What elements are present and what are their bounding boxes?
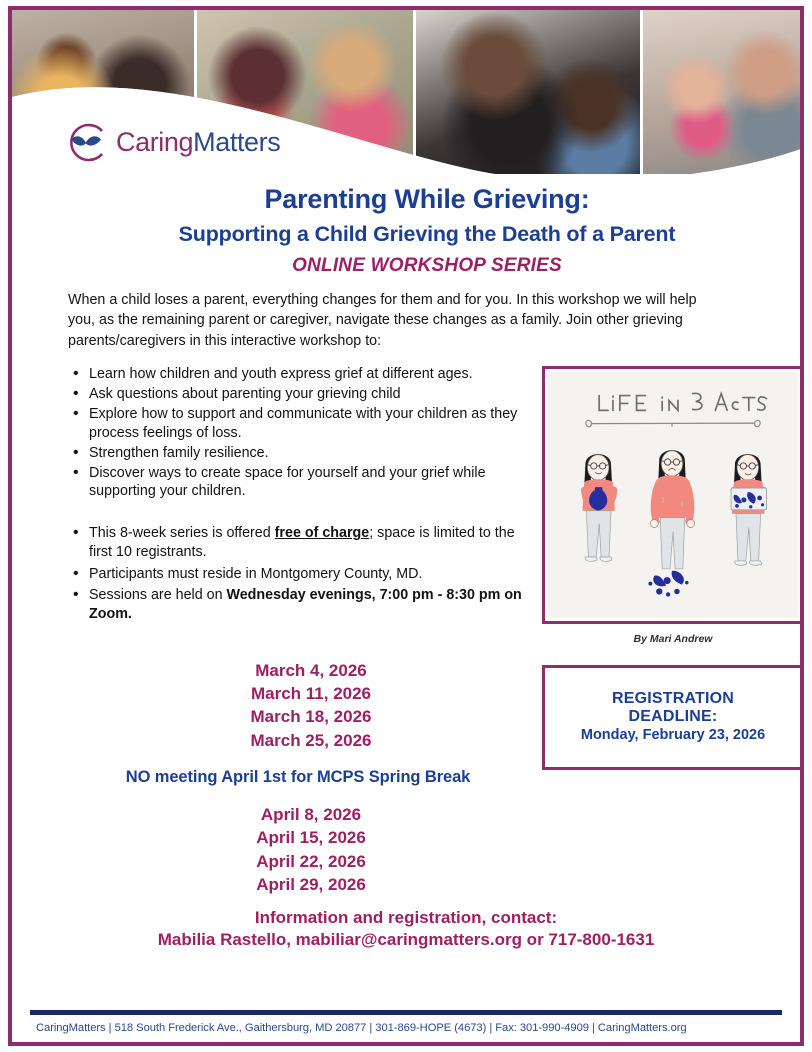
photo-father-and-son-drawing xyxy=(416,10,640,174)
page-subtitle: Supporting a Child Grieving the Death of… xyxy=(68,222,786,247)
list-item: Sessions are held on Wednesday evenings,… xyxy=(89,586,528,623)
list-item: Ask questions about parenting your griev… xyxy=(89,385,528,404)
list-item: Explore how to support and communicate w… xyxy=(89,405,528,442)
list-item: March 25, 2026 xyxy=(94,729,528,752)
session-dates-march: March 4, 2026 March 11, 2026 March 18, 2… xyxy=(68,659,528,752)
list-item: Strengthen family resilience. xyxy=(89,444,528,463)
objectives-column: Learn how children and youth express gri… xyxy=(68,365,528,626)
photo-father-and-daughter-coloring xyxy=(643,10,800,174)
detail-text: Participants must reside in Montgomery C… xyxy=(89,566,422,582)
registration-column: REGISTRATION DEADLINE: Monday, February … xyxy=(528,659,804,770)
dates-column: March 4, 2026 March 11, 2026 March 18, 2… xyxy=(68,659,528,896)
illustration-column: By Mari Andrew xyxy=(528,365,804,645)
dates-and-registration-row: March 4, 2026 March 11, 2026 March 18, 2… xyxy=(68,659,786,896)
list-item: This 8-week series is offered free of ch… xyxy=(89,524,528,561)
footer-contact-line: CaringMatters | 518 South Frederick Ave.… xyxy=(22,1022,790,1034)
caringmatters-logo: CaringMatters xyxy=(64,120,280,165)
list-item: Discover ways to create space for yourse… xyxy=(89,464,528,501)
header-photo-banner: CaringMatters xyxy=(12,10,800,174)
no-meeting-notice: NO meeting April 1st for MCPS Spring Bre… xyxy=(68,768,528,787)
contact-details[interactable]: Mabilia Rastello, mabiliar@caringmatters… xyxy=(68,930,744,950)
illustration-caption: By Mari Andrew xyxy=(542,633,804,645)
life-in-3-acts-illustration xyxy=(542,366,804,624)
registration-label-line2: DEADLINE: xyxy=(553,708,793,726)
series-label: ONLINE WORKSHOP SERIES xyxy=(68,255,786,277)
caringmatters-logo-text: CaringMatters xyxy=(116,127,280,158)
intro-paragraph: When a child loses a parent, everything … xyxy=(68,290,724,351)
objectives-and-illustration-row: Learn how children and youth express gri… xyxy=(68,365,786,645)
registration-deadline-date: Monday, February 23, 2026 xyxy=(553,727,793,743)
footer-divider xyxy=(30,1010,782,1015)
list-item: April 22, 2026 xyxy=(94,850,528,873)
detail-emphasis: free of charge xyxy=(275,525,370,541)
registration-deadline-box: REGISTRATION DEADLINE: Monday, February … xyxy=(542,665,804,770)
list-item: April 8, 2026 xyxy=(94,803,528,826)
footer: CaringMatters | 518 South Frederick Ave.… xyxy=(12,1010,800,1042)
life-in-3-acts-drawing xyxy=(548,372,798,618)
flyer-page: CaringMatters Parenting While Grieving: … xyxy=(8,6,804,1046)
list-item: March 11, 2026 xyxy=(94,682,528,705)
logo-word-caring: Caring xyxy=(116,127,193,157)
flyer-body: Parenting While Grieving: Supporting a C… xyxy=(12,184,800,950)
logo-word-matters: Matters xyxy=(193,127,280,157)
detail-text: This 8-week series is offered xyxy=(89,525,275,541)
list-item: April 29, 2026 xyxy=(94,873,528,896)
detail-text: Sessions are held on xyxy=(89,587,227,603)
objectives-list: Learn how children and youth express gri… xyxy=(68,365,528,501)
list-item: March 18, 2026 xyxy=(94,705,528,728)
contact-heading: Information and registration, contact: xyxy=(68,908,744,928)
list-item: April 15, 2026 xyxy=(94,826,528,849)
list-item: Learn how children and youth express gri… xyxy=(89,365,528,384)
list-item: Participants must reside in Montgomery C… xyxy=(89,565,528,584)
page-title: Parenting While Grieving: xyxy=(68,184,786,215)
list-item: March 4, 2026 xyxy=(94,659,528,682)
caringmatters-logo-icon xyxy=(64,120,109,165)
registration-label-line1: REGISTRATION xyxy=(553,690,793,708)
contact-info: Information and registration, contact: M… xyxy=(68,908,786,950)
session-dates-april: April 8, 2026 April 15, 2026 April 22, 2… xyxy=(68,803,528,896)
details-list: This 8-week series is offered free of ch… xyxy=(68,524,528,623)
